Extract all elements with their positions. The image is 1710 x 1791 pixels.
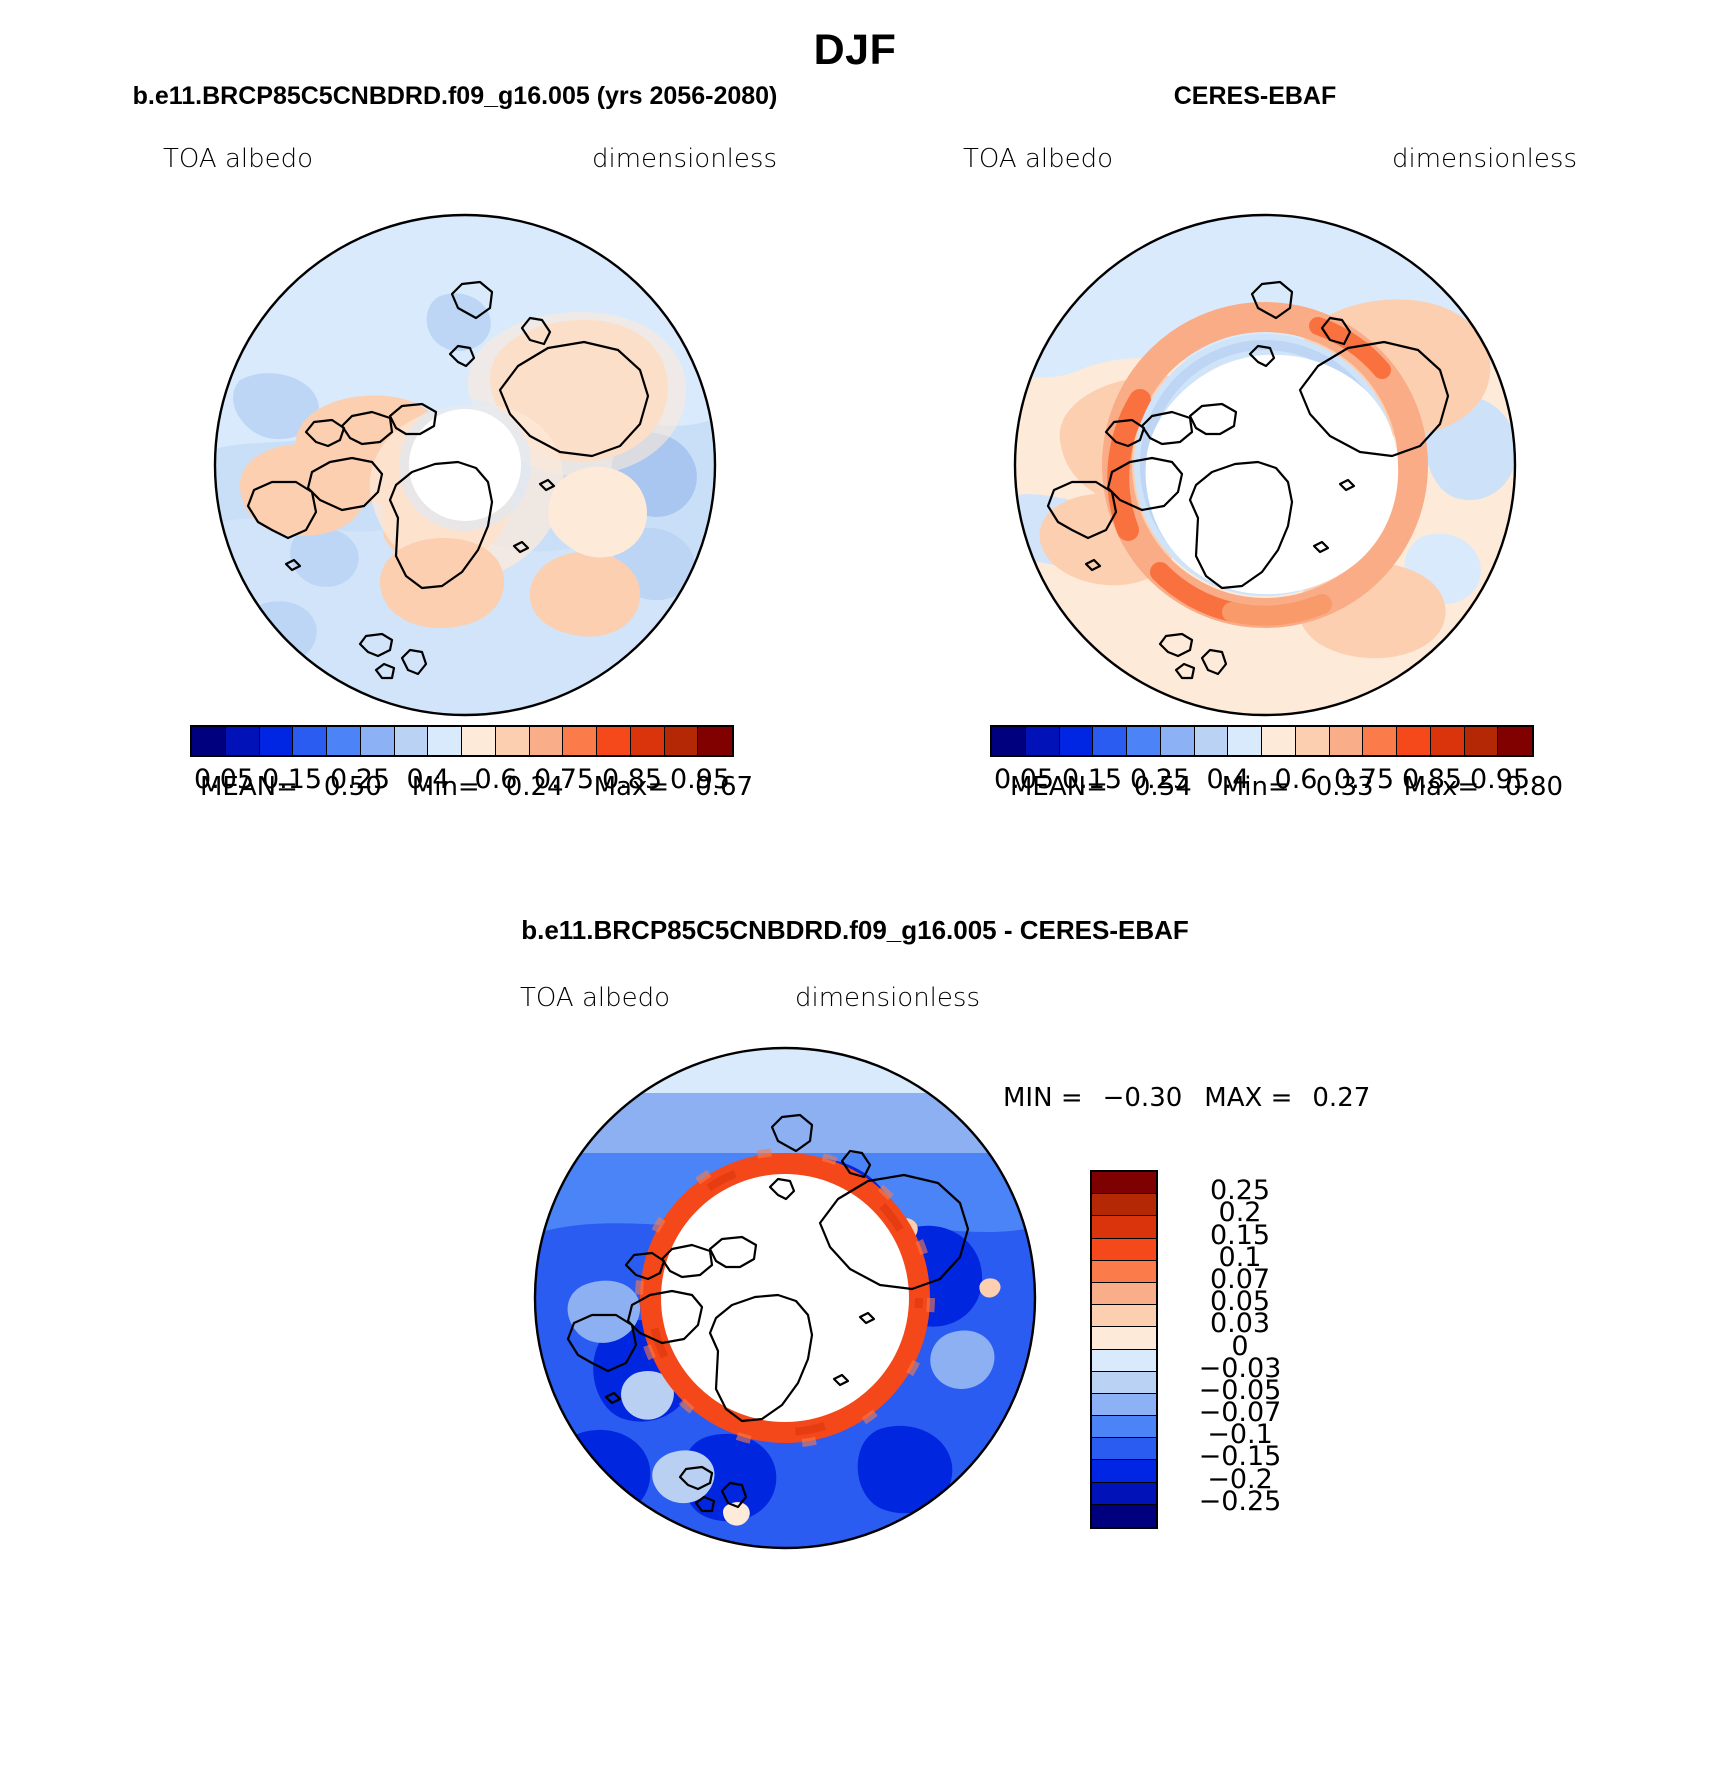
colorbar-swatch: [992, 727, 1026, 755]
panel-model-title: b.e11.BRCP85C5CNBDRD.f09_g16.005 (yrs 20…: [55, 82, 855, 111]
map-difference-svg: [520, 1033, 1050, 1563]
colorbar-tick-label: 0.95: [655, 764, 745, 795]
colorbar-swatch: [1092, 1372, 1156, 1394]
panel-obs-title: CERES-EBAF: [855, 82, 1655, 111]
colorbar-swatch: [1262, 727, 1296, 755]
colorbar-swatch: [1092, 1327, 1156, 1349]
colorbar-model: [190, 725, 734, 757]
figure-season-title: DJF: [0, 26, 1710, 75]
colorbar-swatch: [395, 727, 429, 755]
colorbar-swatch: [260, 727, 294, 755]
diff-min-label: MIN =: [1003, 1083, 1083, 1113]
colorbar-swatch: [1092, 1483, 1156, 1505]
map-obs-svg: [1000, 200, 1530, 730]
colorbar-swatch: [1093, 727, 1127, 755]
colorbar-obs: [990, 725, 1534, 757]
panel-obs: CERES-EBAF TOA albedo dimensionless: [855, 82, 1655, 872]
panel-obs-variable-label: TOA albedo: [963, 144, 1113, 174]
colorbar-swatch: [1397, 727, 1431, 755]
colorbar-swatch: [597, 727, 631, 755]
colorbar-swatch: [1092, 1194, 1156, 1216]
diff-min-value: −0.30: [1103, 1083, 1183, 1113]
colorbar-tick-label: 0.95: [1455, 764, 1545, 795]
colorbar-swatch: [1296, 727, 1330, 755]
colorbar-swatch: [1092, 1216, 1156, 1238]
colorbar-swatch: [1060, 727, 1094, 755]
colorbar-swatch: [1092, 1305, 1156, 1327]
colorbar-swatch: [1431, 727, 1465, 755]
panel-diff: b.e11.BRCP85C5CNBDRD.f09_g16.005 - CERES…: [355, 915, 1355, 1595]
colorbar-swatch: [1092, 1172, 1156, 1194]
colorbar-swatch: [428, 727, 462, 755]
map-difference: [520, 1033, 1050, 1563]
colorbar-swatch: [1195, 727, 1229, 755]
colorbar-swatch: [327, 727, 361, 755]
colorbar-swatch: [1228, 727, 1262, 755]
colorbar-swatch: [1092, 1239, 1156, 1261]
colorbar-swatch: [1092, 1283, 1156, 1305]
panel-obs-units-label: dimensionless: [1392, 144, 1577, 174]
colorbar-swatch: [1330, 727, 1364, 755]
colorbar-swatch: [698, 727, 732, 755]
colorbar-swatch: [293, 727, 327, 755]
panel-model-variable-label: TOA albedo: [163, 144, 313, 174]
map-obs: [1000, 200, 1530, 730]
panel-diff-subhead: TOA albedo dimensionless: [355, 983, 1355, 1013]
colorbar-difference-labels: 0.250.20.150.10.070.050.030−0.03−0.05−0.…: [1170, 1170, 1310, 1525]
colorbar-swatch: [361, 727, 395, 755]
colorbar-swatch: [1026, 727, 1060, 755]
colorbar-swatch: [496, 727, 530, 755]
panel-diff-minmax: MIN = −0.30 MAX = 0.27: [1003, 1083, 1392, 1113]
colorbar-swatch: [1092, 1394, 1156, 1416]
colorbar-swatch: [563, 727, 597, 755]
panel-obs-subhead: TOA albedo dimensionless: [855, 144, 1655, 174]
colorbar-swatch: [1092, 1261, 1156, 1283]
colorbar-swatch: [530, 727, 564, 755]
map-model: [200, 200, 730, 730]
colorbar-swatch: [1092, 1438, 1156, 1460]
colorbar-swatch: [192, 727, 226, 755]
colorbar-swatch: [226, 727, 260, 755]
diff-max-value: 0.27: [1312, 1083, 1370, 1113]
colorbar-difference: [1090, 1170, 1158, 1529]
colorbar-tick-label: −0.25: [1170, 1486, 1310, 1517]
panel-diff-title: b.e11.BRCP85C5CNBDRD.f09_g16.005 - CERES…: [355, 915, 1355, 946]
colorbar-swatch: [1092, 1350, 1156, 1372]
panel-diff-variable-label: TOA albedo: [520, 983, 670, 1013]
panel-model: b.e11.BRCP85C5CNBDRD.f09_g16.005 (yrs 20…: [55, 82, 855, 872]
colorbar-swatch: [1161, 727, 1195, 755]
colorbar-swatch: [1498, 727, 1532, 755]
colorbar-swatch: [665, 727, 699, 755]
colorbar-swatch: [1363, 727, 1397, 755]
colorbar-swatch: [1465, 727, 1499, 755]
colorbar-swatch: [1092, 1505, 1156, 1527]
diff-max-label: MAX =: [1204, 1083, 1292, 1113]
panel-diff-units-label: dimensionless: [795, 983, 980, 1013]
panel-model-subhead: TOA albedo dimensionless: [55, 144, 855, 174]
colorbar-swatch: [1092, 1416, 1156, 1438]
colorbar-swatch: [631, 727, 665, 755]
colorbar-swatch: [1092, 1460, 1156, 1482]
colorbar-swatch: [462, 727, 496, 755]
map-model-svg: [200, 200, 730, 730]
colorbar-swatch: [1127, 727, 1161, 755]
panel-model-units-label: dimensionless: [592, 144, 777, 174]
